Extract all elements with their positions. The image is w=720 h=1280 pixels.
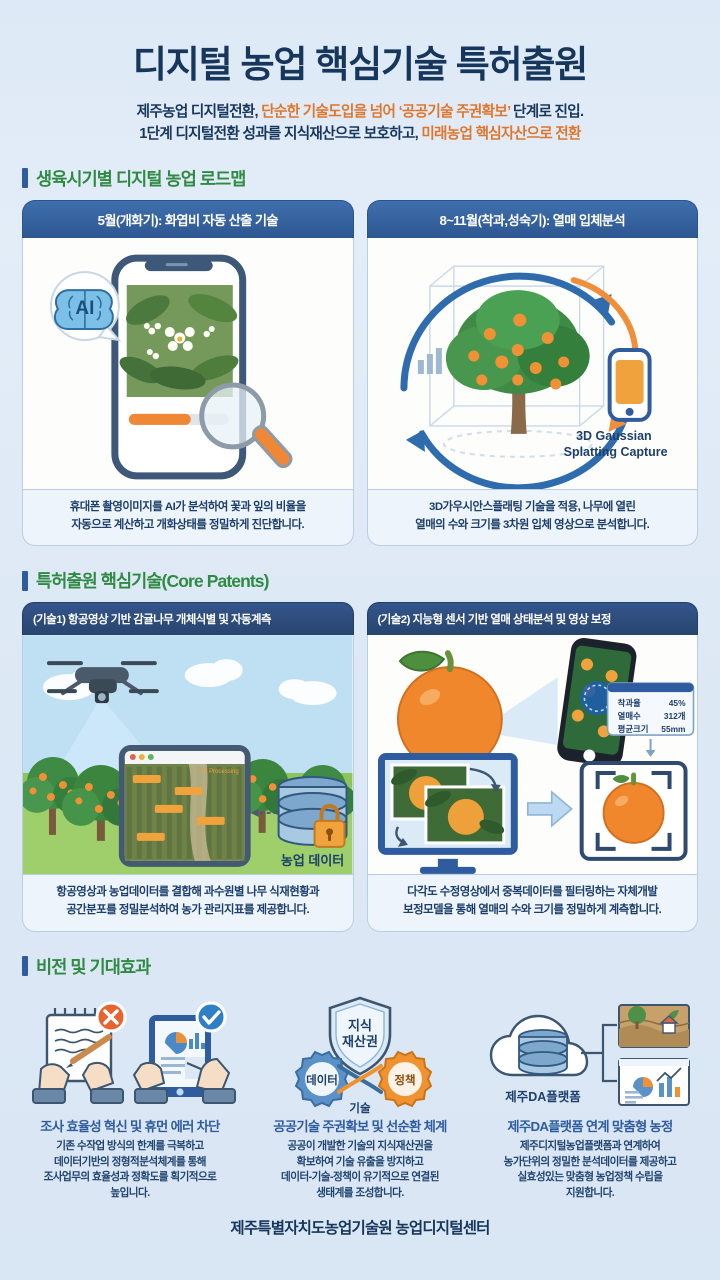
section-roadmap-head: 생육시기별 디지털 농업 로드맵 [22, 166, 720, 191]
patent-card-1-illustration: AI Processing [22, 635, 354, 875]
vision-body-line: 제주디지털농업플랫폼과 연계하여 [477, 1139, 703, 1155]
caption-line: 공간분포를 정밀분석하여 농가 관리지표를 제공합니다. [31, 902, 345, 920]
vision-title-1: 조사 효율성 혁신 및 휴먼 에러 차단 [17, 1116, 243, 1135]
caption-line: 3D가우시안스플래팅 기술을 적용, 나무에 열린 [376, 499, 690, 517]
vision-body-line: 공공이 개발한 기술의 지식재산권을 [257, 1139, 463, 1155]
caption-line: 항공영상과 농업데이터를 결합해 과수원별 나무 식재현황과 [31, 884, 345, 902]
vision-body-line: 생태계를 조성합니다. [257, 1186, 463, 1202]
subtitle-line-1: 제주농업 디지털전환, 단순한 기술도입을 넘어 ‘공공기술 주권확보’ 단계로… [22, 102, 698, 124]
roadmap-card-fruiting[interactable]: 8~11월(착과,성숙기): 열매 입체분석 [367, 200, 699, 546]
vision-art-2: 지식 재산권 데이터 정책 [257, 994, 463, 1116]
ip-shield-gears-icon: 지식 재산권 데이터 정책 [265, 994, 455, 1116]
shield-label-2: 재산권 [342, 1034, 378, 1049]
vision-body-1: 기존 수작업 방식의 한계를 극복하고 데이터기반의 정형적분석체계를 통해 조… [17, 1139, 243, 1203]
ai-processing-screen: AI Processing [119, 745, 251, 867]
vision-body-line: 기존 수작업 방식의 한계를 극복하고 [17, 1139, 243, 1155]
subtitle-2b-highlight: 미래농업 핵심자산으로 전환 [421, 126, 580, 142]
roadmap-card-1-illustration: AI [22, 238, 354, 490]
section-vision: 비전 및 기대효과 [0, 954, 720, 1203]
infographic-page: 디지털 농업 핵심기술 특허출원 제주농업 디지털전환, 단순한 기술도입을 넘… [0, 0, 720, 1280]
section-roadmap-title: 생육시기별 디지털 농업 로드맵 [36, 166, 246, 191]
shield-label-1: 지식 [348, 1018, 372, 1033]
patent-card-2-caption: 다각도 수정영상에서 중복데이터를 필터링하는 자체개발 보정모델을 통해 열매… [367, 875, 699, 931]
caption-line: 열매의 수와 크기를 3차원 입체 영상으로 분석합니다. [376, 517, 690, 535]
patents-card-grid: (기술1) 항공영상 기반 감귤나무 개체식별 및 자동계측 [0, 602, 720, 931]
footer-organization: 제주특별자치도농업기술원 농업디지털센터 [230, 1220, 489, 1237]
section-core-patents: 특허출원 핵심기술(Core Patents) (기술1) 항공영상 기반 감귤… [0, 568, 720, 931]
vision-title-2: 공공기술 주권확보 및 선순환 체계 [257, 1116, 463, 1135]
3d-gaussian-splatting-graphic: 3D Gaussian Splatting Capture [368, 238, 698, 490]
patent-card-2-title: (기술2) 지능형 센서 기반 열매 상태분석 및 영상 보정 [367, 602, 699, 635]
gear-right-label: 정책 [394, 1073, 415, 1087]
section-accent-bar [22, 571, 28, 591]
roadmap-card-1-title: 5월(개화기): 화엽비 자동 산출 기술 [22, 200, 354, 238]
section-roadmap: 생육시기별 디지털 농업 로드맵 5월(개화기): 화엽비 자동 산출 기술 [0, 166, 720, 546]
vision-art-1 [17, 994, 243, 1116]
section-vision-title: 비전 및 기대효과 [36, 954, 150, 979]
vision-body-line: 지원합니다. [477, 1186, 703, 1202]
subtitle-line-2: 1단계 디지털전환 성과를 지식재산으로 보호하고, 미래농업 핵심자산으로 전… [22, 124, 698, 146]
metric-value-1: 312개 [663, 711, 685, 721]
cloud-platform-icon: 제주DA플랫폼 [477, 999, 703, 1111]
roadmap-card-flowering[interactable]: 5월(개화기): 화엽비 자동 산출 기술 [22, 200, 354, 546]
caption-line: 보정모델을 통해 열매의 수와 크기를 정밀하게 계측합니다. [376, 902, 690, 920]
metric-label-1: 열매수 [617, 711, 640, 721]
gear-bottom-label: 기술 [349, 1101, 371, 1115]
db-label: 농업 데이터 [281, 853, 344, 868]
vision-body-line: 확보하여 기술 유출을 방지하고 [257, 1155, 463, 1171]
roadmap-card-grid: 5월(개화기): 화엽비 자동 산출 기술 [0, 200, 720, 546]
section-patents-title: 특허출원 핵심기술(Core Patents) [36, 568, 269, 593]
vision-body-line: 실효성있는 맞춤형 농업정책 수립을 [477, 1170, 703, 1186]
subtitle-1c: 단계로 진입. [510, 104, 583, 120]
farm-tile-icon [619, 1005, 689, 1047]
patent-card-sensor-analysis[interactable]: (기술2) 지능형 센서 기반 열매 상태분석 및 영상 보정 [367, 602, 699, 931]
vision-column-sovereignty: 지식 재산권 데이터 정책 [252, 994, 468, 1203]
caption-line: 휴대폰 촬영이미지를 AI가 분석하여 꽃과 잎의 비율을 [31, 499, 345, 517]
section-patents-head: 특허출원 핵심기술(Core Patents) [22, 568, 720, 593]
subtitle-1b-highlight: 단순한 기술도입을 넘어 ‘공공기술 주권확보’ [261, 104, 510, 120]
section-accent-bar [22, 956, 28, 976]
gaussian-label-1: 3D Gaussian [576, 429, 652, 443]
subtitle-1a: 제주농업 디지털전환, [137, 104, 262, 120]
vision-title-3: 제주DA플랫폼 연계 맞춤형 농정 [477, 1116, 703, 1135]
gear-left-label: 데이터 [306, 1073, 338, 1087]
metrics-panel: 착과율 45% 열매수 312개 평균크기 55mm [607, 683, 693, 735]
caption-line: 다각도 수정영상에서 중복데이터를 필터링하는 자체개발 [376, 884, 690, 902]
subtitle-2a: 1단계 디지털전환 성과를 지식재산으로 보호하고, [139, 126, 421, 142]
gear-data-icon: 데이터 [296, 1052, 348, 1106]
vision-body-line: 데이터-기술-정책이 유기적으로 연결된 [257, 1170, 463, 1186]
vision-body-line: 농가단위의 정밀한 분석데이터를 제공하고 [477, 1155, 703, 1171]
svg-text:AI: AI [75, 298, 94, 319]
vision-column-platform: 제주DA플랫폼 [472, 994, 708, 1203]
database-icon [519, 1030, 567, 1074]
vision-art-3: 제주DA플랫폼 [477, 994, 703, 1116]
roadmap-card-2-caption: 3D가우시안스플래팅 기술을 적용, 나무에 열린 열매의 수와 크기를 3차원… [367, 490, 699, 546]
database-icon [279, 777, 347, 847]
vision-column-efficiency: 조사 효율성 혁신 및 휴먼 에러 차단 기존 수작업 방식의 한계를 극복하고… [12, 994, 248, 1203]
subtitle-block: 제주농업 디지털전환, 단순한 기술도입을 넘어 ‘공공기술 주권확보’ 단계로… [22, 102, 698, 146]
metric-value-0: 45% [668, 698, 685, 708]
drone-orchard-graphic: AI Processing [23, 635, 353, 875]
phone-ai-analysis-graphic: AI [23, 238, 353, 490]
caption-line: 자동으로 계산하고 개화상태를 정밀하게 진단합니다. [31, 517, 345, 535]
footer: 제주특별자치도농업기술원 농업디지털센터 [0, 1216, 720, 1238]
ai-processing-label: AI Processing [202, 769, 239, 775]
capture-phone-icon [609, 350, 649, 420]
roadmap-card-2-illustration: 3D Gaussian Splatting Capture [367, 238, 699, 490]
dashboard-tile-icon [619, 1059, 689, 1105]
sensor-fruit-correction-graphic: 착과율 45% 열매수 312개 평균크기 55mm [368, 635, 698, 875]
ai-brain-badge: AI [51, 272, 119, 340]
metric-label-2: 평균크기 [617, 724, 648, 734]
patent-card-1-title: (기술1) 항공영상 기반 감귤나무 개체식별 및 자동계측 [22, 602, 354, 635]
gear-policy-icon: 정책 [379, 1052, 431, 1106]
page-title: 디지털 농업 핵심기술 특허출원 [22, 44, 698, 86]
patent-card-1-caption: 항공영상과 농업데이터를 결합해 과수원별 나무 식재현황과 공간분포를 정밀분… [22, 875, 354, 931]
result-crop-frame [581, 763, 685, 859]
vision-body-line: 조사업무의 효율성과 정확도를 획기적으로 [17, 1170, 243, 1186]
cloud-platform-label: 제주DA플랫폼 [505, 1089, 581, 1104]
metric-value-2: 55mm [661, 724, 685, 734]
vision-body-3: 제주디지털농업플랫폼과 연계하여 농가단위의 정밀한 분석데이터를 제공하고 실… [477, 1139, 703, 1203]
vision-body-line: 데이터기반의 정형적분석체계를 통해 [17, 1155, 243, 1171]
roadmap-card-2-title: 8~11월(착과,성숙기): 열매 입체분석 [367, 200, 699, 238]
section-vision-head: 비전 및 기대효과 [22, 954, 720, 979]
vision-body-line: 높입니다. [17, 1186, 243, 1202]
patent-card-aerial-detection[interactable]: (기술1) 항공영상 기반 감귤나무 개체식별 및 자동계측 [22, 602, 354, 931]
manual-vs-digital-icon [17, 999, 243, 1111]
metric-label-0: 착과율 [617, 698, 640, 708]
vision-body-2: 공공이 개발한 기술의 지식재산권을 확보하여 기술 유출을 방지하고 데이터-… [257, 1139, 463, 1203]
vision-columns: 조사 효율성 혁신 및 휴먼 에러 차단 기존 수작업 방식의 한계를 극복하고… [0, 988, 720, 1203]
section-accent-bar [22, 168, 28, 188]
header: 디지털 농업 핵심기술 특허출원 제주농업 디지털전환, 단순한 기술도입을 넘… [0, 0, 720, 146]
patent-card-2-illustration: 착과율 45% 열매수 312개 평균크기 55mm [367, 635, 699, 875]
roadmap-card-1-caption: 휴대폰 촬영이미지를 AI가 분석하여 꽃과 잎의 비율을 자동으로 계산하고 … [22, 490, 354, 546]
gaussian-label-2: Splatting Capture [563, 445, 667, 459]
svg-text:3D Gaussian Spla: 3D Gaussian Splatting Capture [563, 429, 667, 459]
